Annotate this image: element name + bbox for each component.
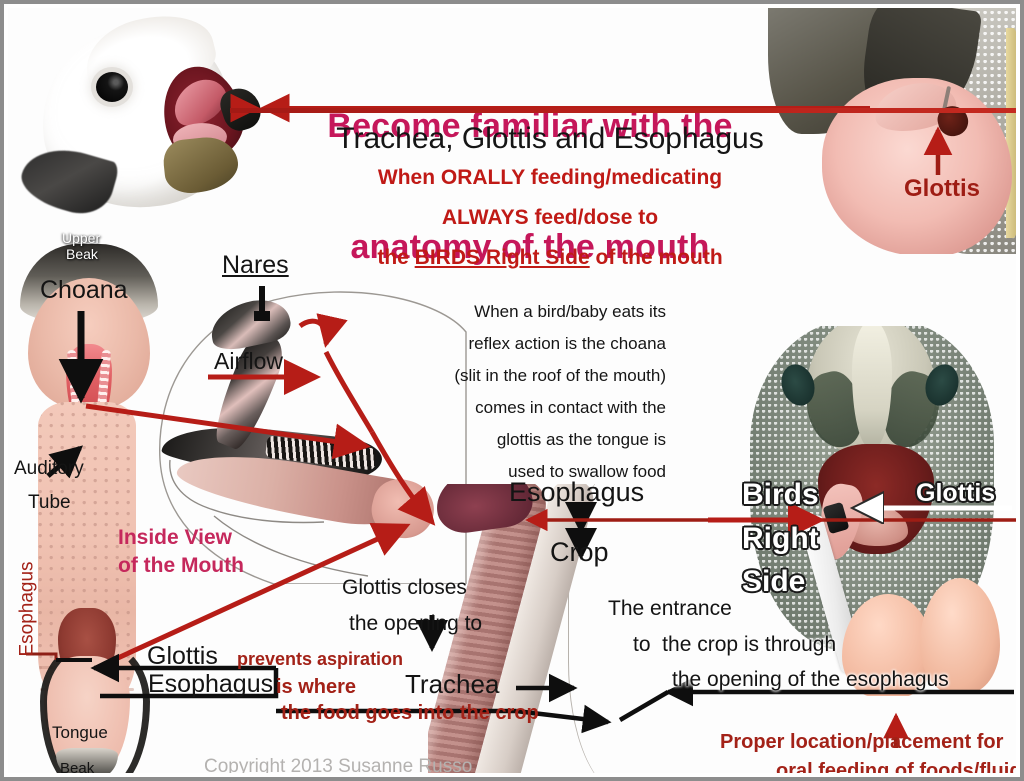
label-birds-right-side-line2: Right: [742, 522, 819, 556]
copyright-notice: Copyright 2013 Susanne Russo: [204, 756, 472, 773]
label-auditory-tube-line2: Tube: [28, 492, 71, 514]
crop-entrance-line-2: to the crop is through: [633, 633, 836, 657]
instruction-line-2: ALWAYS feed/dose to: [290, 206, 810, 231]
glottis-closes-line-2: the opening to: [349, 612, 482, 636]
label-airflow: Airflow: [214, 348, 283, 375]
label-nares: Nares: [222, 251, 289, 280]
tube-outline: [568, 484, 709, 773]
label-inside-view-line1: Inside View: [118, 526, 232, 550]
label-tongue: Tongue: [52, 723, 108, 743]
proper-location-line-2: oral feeding of foods/fluids: [776, 760, 1016, 773]
label-inside-view-line2: of the Mouth: [118, 554, 244, 578]
label-prevents-aspiration: prevents aspiration: [237, 649, 403, 670]
instruction-line-3-suffix: of the mouth: [590, 246, 723, 269]
proper-location-line-1: Proper location/placement for: [720, 731, 1003, 754]
beak-rim: [1006, 28, 1016, 238]
label-auditory-tube-line1: Auditory: [14, 458, 84, 480]
instruction-line-3: the BIRDS Right Side of the mouth: [290, 246, 810, 271]
infographic-poster: Become familiar with the anatomy of the …: [0, 0, 1024, 781]
label-esophagus-vertical: Esophagus: [17, 561, 39, 656]
crop-entrance-line-1: The entrance: [608, 597, 732, 621]
choana-reflex-line-5: glottis as the tongue is: [318, 424, 666, 456]
cockatoo-eye: [96, 72, 128, 102]
instruction-line-3-emphasis: BIRDS Right Side: [415, 246, 590, 269]
choana-reflex-line-2: reflex action is the choana: [318, 328, 666, 360]
label-glottis-topright: Glottis: [904, 175, 980, 203]
glottis-closes-line-1: Glottis closes: [342, 576, 467, 600]
label-birds-right-side-line1: Birds: [742, 478, 819, 512]
label-beak: Beak: [60, 760, 94, 773]
crop-entrance-line-3: the opening of the esophagus: [672, 668, 949, 692]
choana-reflex-line-4: comes in contact with the: [318, 392, 666, 424]
label-upper-beak-line2: Beak: [66, 246, 98, 262]
label-is-where: is where: [276, 676, 356, 699]
label-upper-beak-line1: Upper: [62, 230, 100, 246]
choana-reflex-paragraph: When a bird/baby eats its reflex action …: [318, 296, 666, 488]
label-trachea: Trachea: [405, 669, 499, 700]
instruction-line-3-prefix: the: [377, 246, 414, 269]
label-glottis-bottom: Glottis: [147, 642, 218, 671]
label-food-goes-into-crop: the food goes into the crop: [281, 702, 539, 725]
label-esophagus-bottom: Esophagus: [148, 670, 273, 699]
choana-reflex-line-3: (slit in the roof of the mouth): [318, 360, 666, 392]
choana-reflex-line-1: When a bird/baby eats its: [318, 296, 666, 328]
label-glottis-right-photo: Glottis: [916, 479, 995, 508]
subtitle-anatomy-parts: Trachea, Glottis and Esophagus: [290, 121, 810, 156]
label-birds-right-side-line3: Side: [742, 565, 805, 599]
title-divider-rule: [230, 108, 1016, 113]
label-choana: Choana: [40, 276, 128, 305]
label-crop: Crop: [550, 537, 609, 568]
instruction-line-1: When ORALLY feeding/medicating: [290, 166, 810, 191]
poster-canvas: Become familiar with the anatomy of the …: [8, 8, 1016, 773]
cockatoo-head-photo: [14, 10, 282, 246]
label-esophagus-center: Esophagus: [509, 477, 644, 508]
